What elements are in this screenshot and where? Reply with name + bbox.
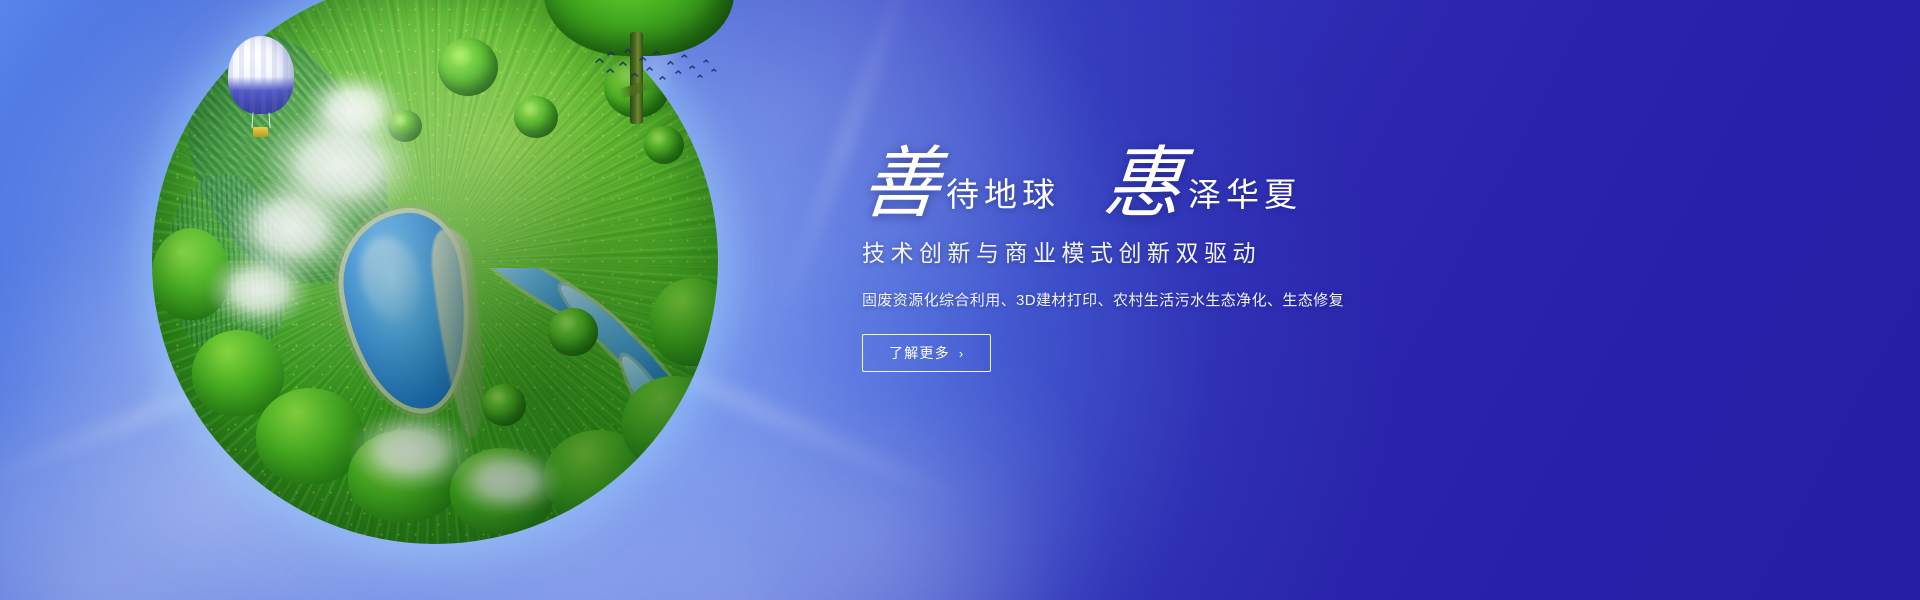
hero-text-block: 善 待地球 惠 泽华夏 技术创新与商业模式创新双驱动 固废资源化综合利用、3D建… [862, 128, 1462, 372]
surface-cloud [302, 70, 406, 150]
tree-canopy [438, 38, 498, 96]
headline-group-two: 惠 泽华夏 [1104, 148, 1302, 220]
chevron-right-icon: › [959, 347, 965, 360]
learn-more-button[interactable]: 了解更多 › [862, 334, 991, 372]
hero-subtitle: 技术创新与商业模式创新双驱动 [862, 234, 1462, 268]
balloon-basket [253, 127, 268, 137]
headline-group-one: 善 待地球 [862, 148, 1060, 220]
hot-air-balloon-icon [228, 36, 306, 140]
balloon-envelope [228, 36, 294, 114]
tree-canopy [548, 308, 598, 356]
surface-cloud [206, 250, 314, 330]
headline-big-char-one: 善 [859, 148, 949, 220]
bird-flock-icon [592, 46, 722, 94]
headline-small-text-one: 待地球 [946, 180, 1060, 220]
headline-small-text-two: 泽华夏 [1188, 180, 1302, 220]
page-title: 善 待地球 惠 泽华夏 [862, 128, 1462, 220]
learn-more-label: 了解更多 [889, 343, 950, 363]
balloon-lines [251, 113, 270, 129]
headline-big-char-two: 惠 [1101, 148, 1191, 220]
rim-forest [622, 376, 718, 470]
tree-canopy [482, 384, 526, 426]
hero-description: 固废资源化综合利用、3D建材打印、农村生活污水生态净化、生态修复 [862, 289, 1462, 310]
surface-cloud [452, 446, 564, 516]
tree-canopy [644, 126, 684, 164]
hero-banner: 善 待地球 惠 泽华夏 技术创新与商业模式创新双驱动 固废资源化综合利用、3D建… [0, 0, 1920, 600]
